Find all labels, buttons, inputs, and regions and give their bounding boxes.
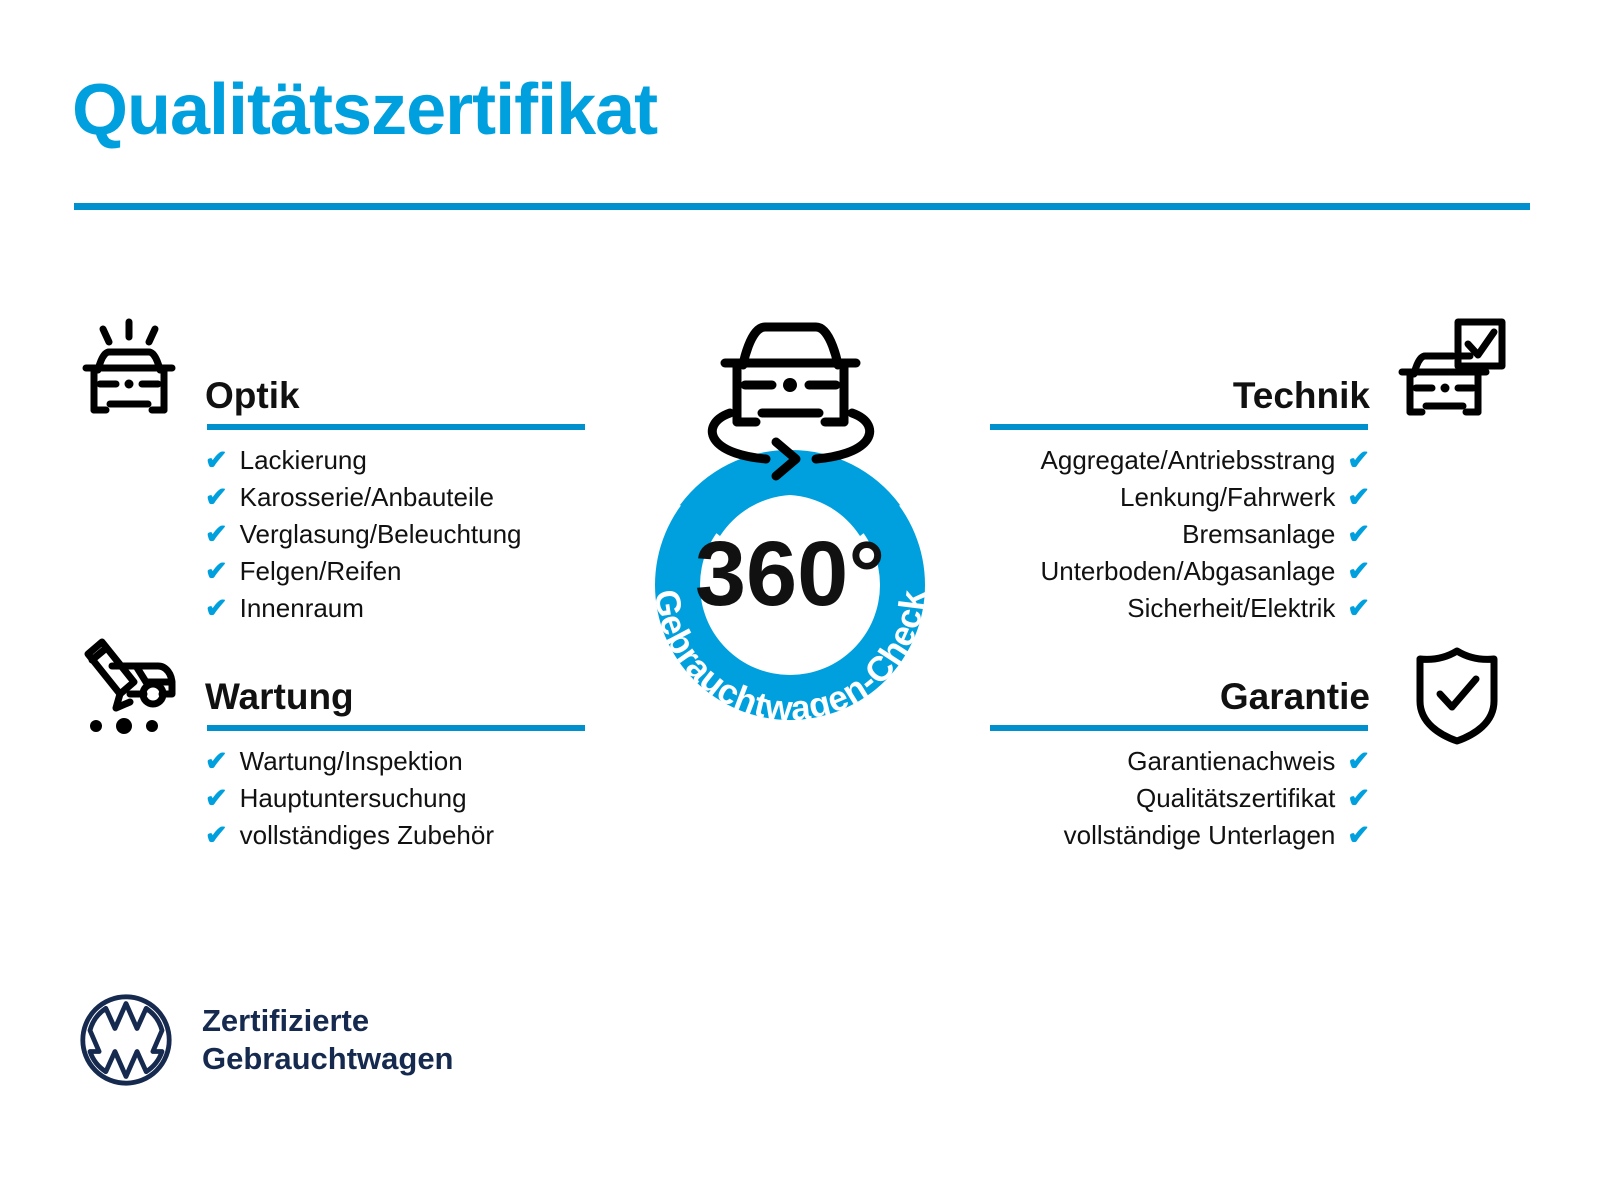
list-item: ✔Lackierung — [205, 442, 585, 479]
list-item-label: Hauptuntersuchung — [240, 780, 467, 817]
section-optik-list: ✔Lackierung ✔Karosserie/Anbauteile ✔Verg… — [205, 442, 585, 627]
list-item: Aggregate/Antriebsstrang✔ — [990, 442, 1370, 479]
vw-logo — [78, 992, 174, 1088]
section-garantie-header: Garantie — [990, 661, 1370, 717]
check-icon: ✔ — [1347, 595, 1370, 622]
check-icon: ✔ — [205, 484, 228, 511]
list-item: Garantienachweis✔ — [990, 743, 1370, 780]
list-item: Qualitätszertifikat✔ — [990, 780, 1370, 817]
page-title: Qualitätszertifikat — [72, 74, 657, 146]
list-item: Lenkung/Fahrwerk✔ — [990, 479, 1370, 516]
list-item: vollständige Unterlagen✔ — [990, 817, 1370, 854]
list-item: ✔Innenraum — [205, 590, 585, 627]
section-garantie-divider — [990, 725, 1368, 731]
pencil-car-service-icon — [74, 636, 184, 741]
list-item: ✔Felgen/Reifen — [205, 553, 585, 590]
footer-line-2: Gebrauchtwagen — [202, 1040, 454, 1078]
list-item-label: Lackierung — [240, 442, 367, 479]
list-item-label: Wartung/Inspektion — [240, 743, 463, 780]
list-item-label: Felgen/Reifen — [240, 553, 402, 590]
check-icon: ✔ — [1347, 484, 1370, 511]
check-icon: ✔ — [1347, 558, 1370, 585]
list-item: ✔Wartung/Inspektion — [205, 743, 585, 780]
list-item-label: Sicherheit/Elektrik — [1127, 590, 1335, 627]
check-icon: ✔ — [205, 558, 228, 585]
quality-certificate-page: Qualitätszertifikat Optik ✔Lackierung ✔K… — [0, 0, 1600, 1200]
list-item-label: Innenraum — [240, 590, 364, 627]
section-technik-divider — [990, 424, 1368, 430]
section-garantie-title: Garantie — [1220, 678, 1370, 715]
section-optik-divider — [207, 424, 585, 430]
check-icon: ✔ — [1347, 521, 1370, 548]
list-item-label: Karosserie/Anbauteile — [240, 479, 494, 516]
check-icon: ✔ — [1347, 748, 1370, 775]
check-icon: ✔ — [1347, 447, 1370, 474]
list-item: Bremsanlage✔ — [990, 516, 1370, 553]
vw-certified-logo: Zertifizierte Gebrauchtwagen — [78, 992, 454, 1088]
list-item: Unterboden/Abgasanlage✔ — [990, 553, 1370, 590]
list-item-label: vollständiges Zubehör — [240, 817, 494, 854]
list-item: ✔Hauptuntersuchung — [205, 780, 585, 817]
shield-check-icon — [1410, 645, 1504, 750]
section-garantie: Garantie Garantienachweis✔ Qualitätszert… — [990, 661, 1370, 854]
section-technik-header: Technik — [990, 360, 1370, 416]
section-wartung-header: Wartung — [205, 661, 585, 717]
section-technik-title: Technik — [1233, 377, 1370, 414]
list-item: ✔Karosserie/Anbauteile — [205, 479, 585, 516]
list-item-label: Bremsanlage — [1182, 516, 1335, 553]
check-icon: ✔ — [1347, 822, 1370, 849]
check-icon: ✔ — [205, 785, 228, 812]
check-icon: ✔ — [205, 521, 228, 548]
check-icon: ✔ — [205, 595, 228, 622]
section-optik: Optik ✔Lackierung ✔Karosserie/Anbauteile… — [205, 360, 585, 627]
section-wartung-title: Wartung — [205, 678, 354, 715]
list-item-label: Verglasung/Beleuchtung — [240, 516, 522, 553]
list-item-label: Qualitätszertifikat — [1136, 780, 1335, 817]
check-icon: ✔ — [1347, 785, 1370, 812]
car-shine-icon — [76, 316, 182, 425]
list-item-label: Lenkung/Fahrwerk — [1120, 479, 1335, 516]
svg-text:360°: 360° — [695, 523, 885, 625]
section-wartung: Wartung ✔Wartung/Inspektion ✔Hauptunters… — [205, 661, 585, 854]
list-item: ✔vollständiges Zubehör — [205, 817, 585, 854]
section-garantie-list: Garantienachweis✔ Qualitätszertifikat✔ v… — [990, 743, 1370, 854]
section-technik: Technik Aggregate/Antriebsstrang✔ Lenkun… — [990, 360, 1370, 627]
list-item: Sicherheit/Elektrik✔ — [990, 590, 1370, 627]
check-icon: ✔ — [205, 748, 228, 775]
car-checkbox-icon — [1398, 316, 1508, 425]
check-icon: ✔ — [205, 822, 228, 849]
section-wartung-list: ✔Wartung/Inspektion ✔Hauptuntersuchung ✔… — [205, 743, 585, 854]
list-item-label: vollständige Unterlagen — [1064, 817, 1336, 854]
title-divider — [74, 203, 1530, 210]
list-item-label: Unterboden/Abgasanlage — [1040, 553, 1335, 590]
footer-line-1: Zertifizierte — [202, 1002, 454, 1040]
list-item-label: Garantienachweis — [1127, 743, 1335, 780]
section-optik-title: Optik — [205, 377, 300, 414]
section-optik-header: Optik — [205, 360, 585, 416]
list-item-label: Aggregate/Antriebsstrang — [1041, 442, 1336, 479]
gebrauchtwagen-check-badge: Gebrauchtwagen-Check 360° — [580, 300, 1000, 770]
footer-logo-text: Zertifizierte Gebrauchtwagen — [202, 1002, 454, 1078]
check-icon: ✔ — [205, 447, 228, 474]
list-item: ✔Verglasung/Beleuchtung — [205, 516, 585, 553]
car-rotate-icon — [712, 327, 869, 476]
section-technik-list: Aggregate/Antriebsstrang✔ Lenkung/Fahrwe… — [990, 442, 1370, 627]
section-wartung-divider — [207, 725, 585, 731]
